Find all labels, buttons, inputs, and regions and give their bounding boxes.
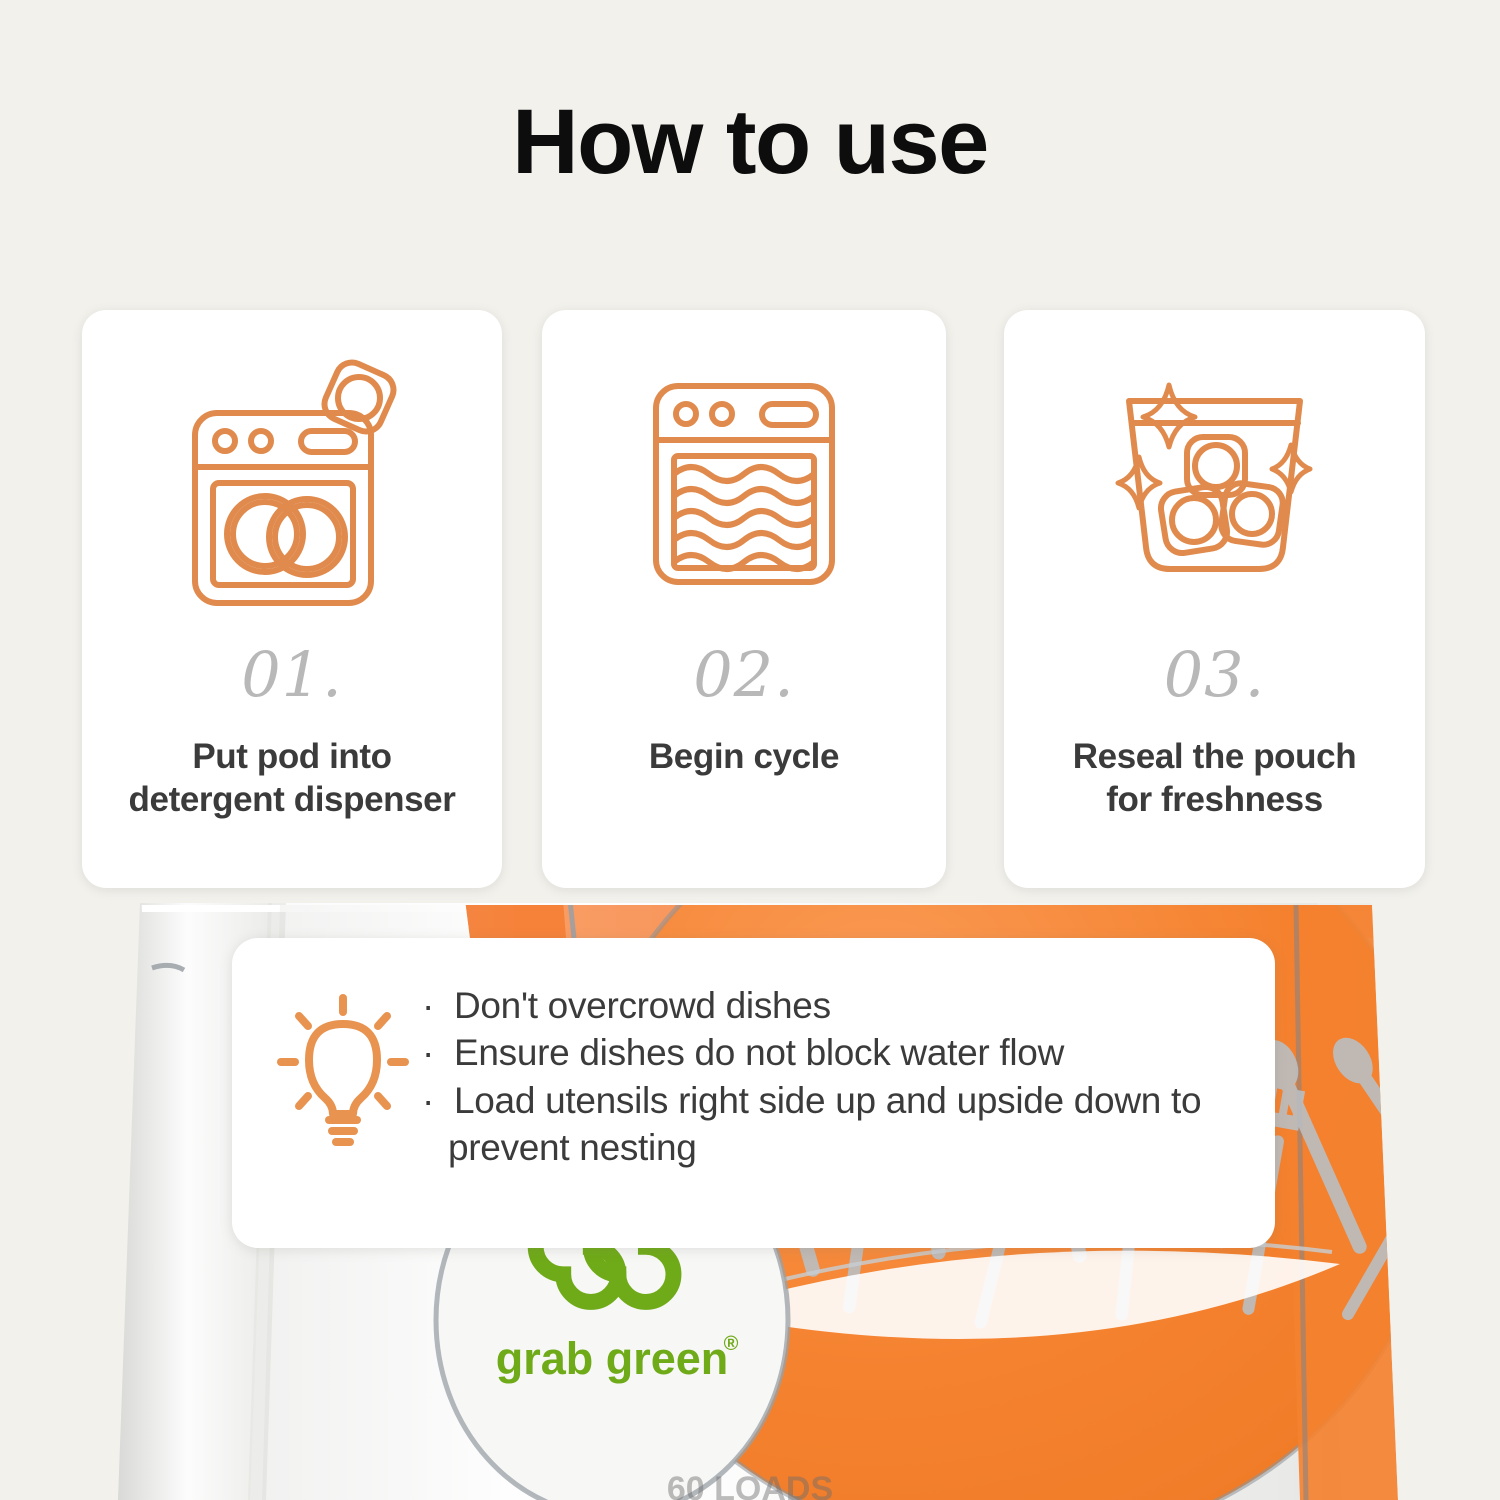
step-number: 03. [1164,644,1266,706]
page-title: How to use [0,96,1500,188]
step-number: 02. [693,644,795,706]
step-label: Reseal the pouchfor freshness [1063,736,1366,821]
svg-text:®: ® [724,1333,739,1355]
pouch-with-pods-icon [1107,336,1322,636]
step-card-1: 01. Put pod intodetergent dispenser [82,310,502,888]
svg-text:grab green: grab green [496,1333,729,1384]
step-card-3: 03. Reseal the pouchfor freshness [1004,310,1425,888]
tip-item: Load utensils right side up and upside d… [422,1077,1245,1172]
dishwasher-running-icon [644,336,844,636]
step-label: Put pod intodetergent dispenser [119,736,466,821]
lightbulb-icon [268,982,418,1154]
step-card-2: 02. Begin cycle [542,310,946,888]
tip-item: Don't overcrowd dishes [422,982,1245,1029]
tips-list: Don't overcrowd dishes Ensure dishes do … [418,982,1245,1171]
step-number: 01. [241,644,343,706]
dishwasher-with-pod-icon [177,336,407,636]
step-label: Begin cycle [639,736,849,779]
svg-text:60 LOADS: 60 LOADS [667,1470,833,1500]
how-to-use-infographic: grab green ® 60 LOADS How to use [0,0,1500,1500]
tips-card: Don't overcrowd dishes Ensure dishes do … [232,938,1275,1248]
tip-item: Ensure dishes do not block water flow [422,1029,1245,1076]
